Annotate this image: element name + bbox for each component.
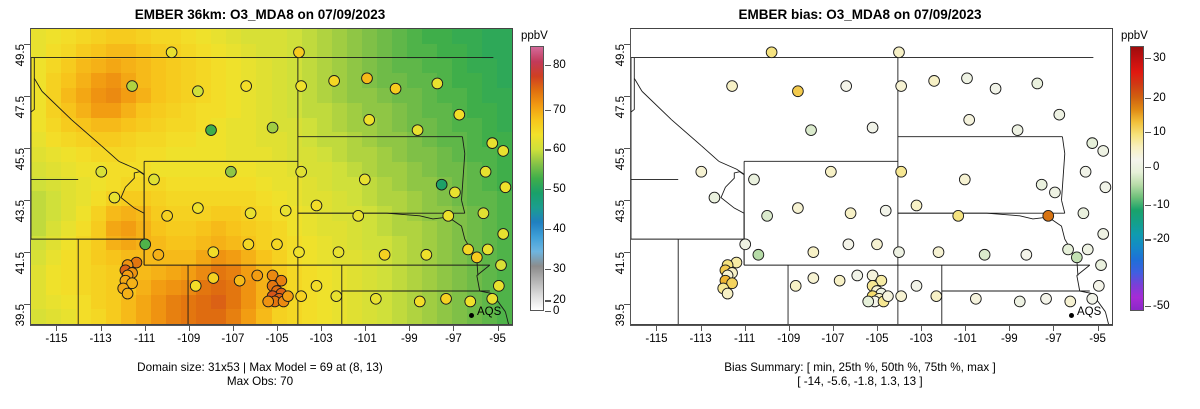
observation-point[interactable] (931, 291, 942, 302)
colorbar-tick-label: 0 (553, 305, 559, 317)
x-tick-label: -101 (954, 333, 977, 345)
right-panel-title: EMBER bias: O3_MDA8 on 07/09/2023 (600, 7, 1120, 22)
observation-point[interactable] (709, 192, 720, 203)
observation-point[interactable] (852, 270, 863, 281)
right-colorbar-unit: ppbV (1121, 30, 1148, 42)
observation-point[interactable] (696, 166, 707, 177)
observation-point[interactable] (970, 293, 981, 304)
x-tick-label: -105 (865, 333, 888, 345)
observation-point[interactable] (498, 229, 509, 240)
colorbar-tick (545, 300, 551, 301)
observation-point[interactable] (272, 239, 283, 250)
left-colorbar-unit: ppbV (521, 30, 548, 42)
colorbar-tick (545, 229, 551, 230)
y-tick-label: 45.5 (15, 148, 27, 170)
colorbar-tick (545, 65, 551, 66)
observation-point[interactable] (421, 249, 432, 260)
x-tick-label: -113 (89, 333, 111, 345)
observation-point[interactable] (749, 174, 760, 185)
observation-point[interactable] (894, 47, 905, 58)
observation-point[interactable] (162, 210, 173, 221)
observation-point[interactable] (454, 109, 465, 120)
observation-point[interactable] (234, 275, 245, 286)
observation-point[interactable] (370, 293, 381, 304)
observation-point[interactable] (463, 244, 474, 255)
observation-point[interactable] (727, 81, 738, 92)
observation-point[interactable] (825, 166, 836, 177)
observation-point[interactable] (863, 296, 874, 307)
observation-point[interactable] (414, 296, 425, 307)
left-caption-line2: Max Obs: 70 (0, 375, 520, 389)
colorbar-tick (1145, 239, 1151, 240)
aqs-legend-label-left: AQS (477, 306, 501, 318)
observation-point[interactable] (911, 280, 922, 291)
observation-point[interactable] (225, 166, 236, 177)
observation-point[interactable] (793, 203, 804, 214)
x-tick (365, 325, 366, 331)
x-tick (789, 325, 790, 331)
observation-point[interactable] (1032, 78, 1043, 89)
observation-point[interactable] (1043, 210, 1054, 221)
y-tick-label: 39.5 (15, 304, 27, 326)
y-tick-label: 41.5 (615, 252, 627, 274)
observation-point[interactable] (740, 239, 751, 250)
observation-point[interactable] (1054, 109, 1065, 120)
observation-point[interactable] (979, 249, 990, 260)
x-tick (833, 325, 834, 331)
x-tick-label: -111 (734, 333, 755, 345)
aqs-legend-label-right: AQS (1077, 306, 1101, 318)
colorbar-tick (545, 189, 551, 190)
x-tick-label: -109 (177, 333, 200, 345)
observation-point[interactable] (487, 293, 498, 304)
observation-point[interactable] (353, 210, 364, 221)
colorbar-tick-label: -20 (1153, 233, 1170, 245)
observation-point[interactable] (482, 244, 493, 255)
colorbar-tick (1145, 132, 1151, 133)
right-caption-line1: Bias Summary: [ min, 25th %, 50th %, 75t… (600, 361, 1120, 375)
right-x-axis (630, 325, 1113, 326)
colorbar-tick (545, 110, 551, 111)
observation-point[interactable] (432, 78, 443, 89)
x-tick (877, 325, 878, 331)
panel-model: EMBER 36km: O3_MDA8 on 07/09/2023 39.541… (0, 0, 600, 409)
colorbar-tick-label: 50 (553, 183, 566, 195)
observation-point[interactable] (1014, 296, 1025, 307)
observation-point[interactable] (208, 247, 219, 258)
observation-point[interactable] (153, 249, 164, 260)
y-tick-label: 41.5 (15, 252, 27, 274)
observation-point[interactable] (722, 288, 733, 299)
observation-point[interactable] (496, 260, 507, 271)
observation-point[interactable] (263, 296, 274, 307)
x-tick-label: -105 (265, 333, 288, 345)
observation-point[interactable] (243, 239, 254, 250)
observation-point[interactable] (294, 247, 305, 258)
observation-point[interactable] (1087, 138, 1098, 149)
observation-point[interactable] (498, 146, 509, 157)
right-colorbar (1130, 46, 1144, 311)
aqs-legend-dot-right (1069, 313, 1074, 318)
x-tick (1009, 325, 1010, 331)
observation-point[interactable] (245, 208, 256, 219)
colorbar-tick-label: 30 (553, 263, 566, 275)
colorbar-tick-label: 60 (553, 143, 566, 155)
observation-point[interactable] (362, 73, 373, 84)
observation-point[interactable] (311, 200, 322, 211)
x-tick (701, 325, 702, 331)
y-tick-label: 39.5 (615, 304, 627, 326)
observation-point[interactable] (109, 192, 120, 203)
x-tick-label: -95 (1089, 333, 1106, 345)
observation-point[interactable] (894, 247, 905, 258)
observation-point[interactable] (252, 270, 263, 281)
x-tick (56, 325, 57, 331)
x-tick-label: -95 (489, 333, 506, 345)
observation-point[interactable] (1041, 293, 1052, 304)
left-panel-title: EMBER 36km: O3_MDA8 on 07/09/2023 (0, 7, 520, 22)
observation-point[interactable] (140, 239, 151, 250)
observation-point[interactable] (443, 210, 454, 221)
right-y-axis (630, 28, 631, 325)
observation-point[interactable] (283, 291, 294, 302)
observation-point[interactable] (1012, 125, 1023, 136)
observation-point[interactable] (896, 166, 907, 177)
observation-point[interactable] (500, 182, 511, 193)
colorbar-tick (1145, 98, 1151, 99)
observation-point[interactable] (896, 81, 907, 92)
observation-point[interactable] (122, 288, 133, 299)
x-tick (277, 325, 278, 331)
observation-point[interactable] (331, 291, 342, 302)
right-map-frame (630, 28, 1113, 325)
observation-point[interactable] (1093, 280, 1104, 291)
observation-point[interactable] (193, 203, 204, 214)
observation-point[interactable] (280, 205, 291, 216)
observation-point[interactable] (1098, 146, 1109, 157)
observation-point[interactable] (311, 280, 322, 291)
left-caption-line1: Domain size: 31x53 | Max Model = 69 at (… (0, 361, 520, 375)
observation-point[interactable] (127, 81, 138, 92)
observation-point[interactable] (1080, 166, 1091, 177)
observation-point[interactable] (929, 76, 940, 87)
observation-point[interactable] (96, 166, 107, 177)
x-tick-label: -103 (310, 333, 333, 345)
x-tick (498, 325, 499, 331)
colorbar-tick-label: 20 (1153, 92, 1166, 104)
y-tick-label: 49.5 (15, 44, 27, 66)
observation-point[interactable] (379, 249, 390, 260)
observation-point[interactable] (436, 179, 447, 190)
observation-point[interactable] (208, 273, 219, 284)
observation-point[interactable] (1050, 187, 1061, 198)
observation-point[interactable] (1036, 179, 1047, 190)
x-tick (453, 325, 454, 331)
observation-point[interactable] (1065, 296, 1076, 307)
observation-point[interactable] (808, 247, 819, 258)
observation-point[interactable] (296, 291, 307, 302)
colorbar-tick-label: 30 (1153, 52, 1166, 64)
observation-point[interactable] (872, 239, 883, 250)
colorbar-tick-label: 0 (1153, 161, 1159, 173)
observation-point[interactable] (149, 174, 160, 185)
x-tick-label: -107 (221, 333, 244, 345)
observation-point[interactable] (364, 114, 375, 125)
observation-point[interactable] (478, 208, 489, 219)
observation-point[interactable] (911, 200, 922, 211)
x-tick-label: -113 (689, 333, 711, 345)
colorbar-tick-label: 70 (553, 104, 566, 116)
x-tick (409, 325, 410, 331)
observation-point[interactable] (1078, 208, 1089, 219)
panel-bias: EMBER bias: O3_MDA8 on 07/09/2023 39.541… (600, 0, 1200, 409)
observation-point[interactable] (1063, 244, 1074, 255)
observation-point[interactable] (1021, 249, 1032, 260)
observation-point[interactable] (412, 125, 423, 136)
observation-point[interactable] (193, 86, 204, 97)
y-tick-label: 47.5 (15, 96, 27, 118)
observation-point[interactable] (834, 275, 845, 286)
observation-point[interactable] (465, 296, 476, 307)
observation-point[interactable] (808, 273, 819, 284)
observation-point[interactable] (880, 205, 891, 216)
observation-point[interactable] (480, 166, 491, 177)
x-tick (921, 325, 922, 331)
observation-point[interactable] (896, 291, 907, 302)
observation-point[interactable] (487, 138, 498, 149)
observation-point[interactable] (793, 86, 804, 97)
observation-point[interactable] (845, 208, 856, 219)
observation-point[interactable] (1096, 260, 1107, 271)
observation-point[interactable] (867, 122, 878, 133)
observation-point[interactable] (206, 125, 217, 136)
x-tick (1053, 325, 1054, 331)
y-tick-label: 43.5 (15, 200, 27, 222)
colorbar-tick (545, 149, 551, 150)
observation-point[interactable] (390, 83, 401, 94)
observation-point[interactable] (471, 252, 482, 263)
colorbar-tick-label: 80 (553, 59, 566, 71)
observation-point[interactable] (450, 187, 461, 198)
x-tick (745, 325, 746, 331)
y-tick-label: 45.5 (615, 148, 627, 170)
x-tick-label: -109 (777, 333, 800, 345)
observation-point[interactable] (267, 122, 278, 133)
x-tick-label: -97 (445, 333, 462, 345)
x-tick-label: -101 (354, 333, 377, 345)
colorbar-tick-label: 40 (553, 223, 566, 235)
colorbar-tick (545, 311, 551, 312)
observation-point[interactable] (933, 247, 944, 258)
bias-markers-right[interactable] (631, 29, 1112, 325)
right-caption-line2: [ -14, -5.6, -1.8, 1.3, 13 ] (600, 375, 1120, 389)
x-tick (189, 325, 190, 331)
colorbar-tick-label: -10 (1153, 199, 1170, 211)
observation-point[interactable] (959, 174, 970, 185)
observation-point[interactable] (790, 280, 801, 291)
colorbar-tick-label: 20 (553, 294, 566, 306)
observation-point[interactable] (841, 81, 852, 92)
colorbar-tick (1145, 306, 1151, 307)
x-tick (656, 325, 657, 331)
colorbar-tick (1145, 58, 1151, 59)
observation-point[interactable] (1098, 229, 1109, 240)
observation-point[interactable] (766, 47, 777, 58)
x-tick-label: -107 (821, 333, 844, 345)
y-tick-label: 47.5 (615, 96, 627, 118)
x-tick (233, 325, 234, 331)
observation-point[interactable] (1100, 182, 1111, 193)
x-tick-label: -103 (910, 333, 933, 345)
x-tick (1098, 325, 1099, 331)
observation-point[interactable] (762, 210, 773, 221)
observation-point[interactable] (190, 280, 201, 291)
left-y-axis (30, 28, 31, 325)
observation-point[interactable] (294, 47, 305, 58)
x-tick-label: -115 (45, 333, 67, 345)
colorbar-tick-label: -50 (1153, 300, 1170, 312)
observation-point[interactable] (1071, 252, 1082, 263)
left-map-frame (30, 28, 513, 325)
observation-markers-left[interactable] (31, 29, 512, 325)
observation-point[interactable] (883, 291, 894, 302)
x-tick-label: -99 (401, 333, 418, 345)
colorbar-tick (545, 269, 551, 270)
observation-point[interactable] (241, 81, 252, 92)
figure-root: EMBER 36km: O3_MDA8 on 07/09/2023 39.541… (0, 0, 1200, 409)
x-tick (101, 325, 102, 331)
x-tick-label: -99 (1001, 333, 1018, 345)
x-tick-label: -97 (1045, 333, 1062, 345)
observation-point[interactable] (964, 114, 975, 125)
x-tick (321, 325, 322, 331)
aqs-legend-dot-left (469, 313, 474, 318)
observation-point[interactable] (333, 247, 344, 258)
observation-point[interactable] (329, 76, 340, 87)
x-tick-label: -115 (645, 333, 667, 345)
x-tick (965, 325, 966, 331)
observation-point[interactable] (493, 280, 504, 291)
observation-point[interactable] (953, 210, 964, 221)
y-tick-label: 49.5 (615, 44, 627, 66)
x-tick-label: -111 (134, 333, 155, 345)
left-colorbar (530, 46, 544, 311)
observation-point[interactable] (990, 83, 1001, 94)
observation-point[interactable] (806, 125, 817, 136)
observation-point[interactable] (962, 73, 973, 84)
observation-point[interactable] (1082, 244, 1093, 255)
observation-point[interactable] (1087, 293, 1098, 304)
colorbar-tick (1145, 167, 1151, 168)
y-tick-label: 43.5 (615, 200, 627, 222)
x-tick (145, 325, 146, 331)
colorbar-tick-label: 10 (1153, 126, 1166, 138)
observation-point[interactable] (296, 81, 307, 92)
observation-point[interactable] (753, 249, 764, 260)
observation-point[interactable] (843, 239, 854, 250)
observation-point[interactable] (166, 47, 177, 58)
observation-point[interactable] (441, 293, 452, 304)
left-x-axis (30, 325, 513, 326)
observation-point[interactable] (359, 174, 370, 185)
colorbar-tick (1145, 205, 1151, 206)
observation-point[interactable] (296, 166, 307, 177)
